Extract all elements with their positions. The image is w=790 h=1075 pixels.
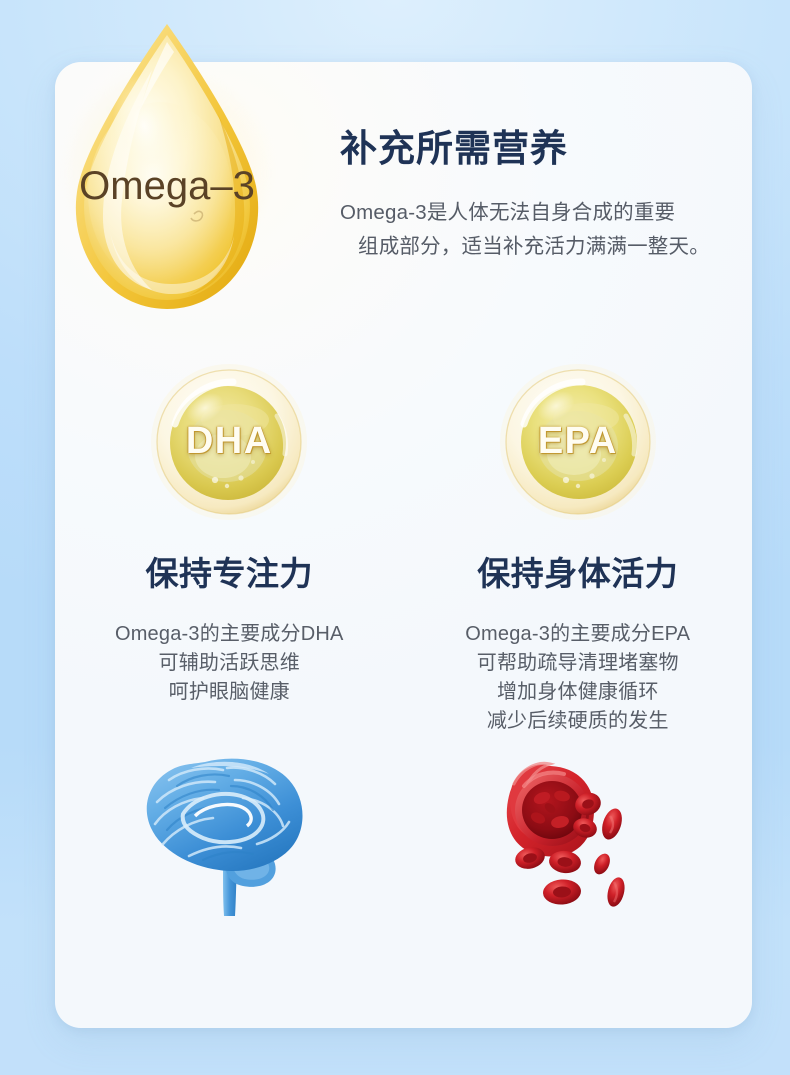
feature-description-epa-line-1: Omega-3的主要成分EPA [465, 620, 690, 649]
feature-description-epa-line-3: 增加身体健康循环 [465, 678, 690, 707]
product-detail-page: Omega–3 补充所需营养 Omega-3是人体无法自身合成的重要 组成部分，… [0, 0, 790, 1075]
brain-illustration [55, 718, 404, 986]
feature-description-dha-line-2: 可辅助活跃思维 [115, 649, 344, 678]
feature-title-dha: 保持专注力 [146, 554, 314, 594]
feature-description-epa-line-2: 可帮助疏导清理堵塞物 [465, 649, 690, 678]
oil-drop-label: Omega–3 [79, 164, 255, 208]
feature-description-dha: Omega-3的主要成分DHA 可辅助活跃思维 呵护眼脑健康 [115, 620, 344, 707]
blood-cells-illustration [404, 736, 753, 986]
dha-capsule-figure: DHA [149, 362, 309, 522]
blood-cells-icon [490, 752, 666, 912]
brain-icon [131, 752, 327, 928]
feature-description-dha-line-3: 呵护眼脑健康 [115, 678, 344, 707]
feature-column-epa: EPA 保持身体活力 Omega-3的主要成分EPA 可帮助疏导清理堵塞物 增加… [404, 366, 753, 986]
hero-description: Omega-3是人体无法自身合成的重要 组成部分，适当补充活力满满一整天。 [340, 196, 732, 264]
feature-title-epa: 保持身体活力 [477, 554, 678, 594]
page-title: 补充所需营养 [340, 126, 740, 172]
feature-description-epa: Omega-3的主要成分EPA 可帮助疏导清理堵塞物 增加身体健康循环 减少后续… [465, 620, 690, 736]
epa-capsule-figure: EPA [498, 362, 658, 522]
epa-capsule-icon [498, 362, 658, 522]
feature-columns: DHA 保持专注力 Omega-3的主要成分DHA 可辅助活跃思维 呵护眼脑健康 [55, 366, 752, 986]
oil-drop-figure: Omega–3 [48, 18, 286, 318]
feature-column-dha: DHA 保持专注力 Omega-3的主要成分DHA 可辅助活跃思维 呵护眼脑健康 [55, 366, 404, 986]
dha-capsule-icon [149, 362, 309, 522]
feature-description-epa-line-4: 减少后续硬质的发生 [465, 707, 690, 736]
hero-description-line-2: 组成部分，适当补充活力满满一整天。 [340, 230, 732, 264]
hero-description-line-1: Omega-3是人体无法自身合成的重要 [340, 196, 732, 230]
feature-description-dha-line-1: Omega-3的主要成分DHA [115, 620, 344, 649]
hero-text-block: 补充所需营养 Omega-3是人体无法自身合成的重要 组成部分，适当补充活力满满… [340, 126, 740, 264]
oil-drop-icon: Omega–3 [48, 18, 286, 318]
